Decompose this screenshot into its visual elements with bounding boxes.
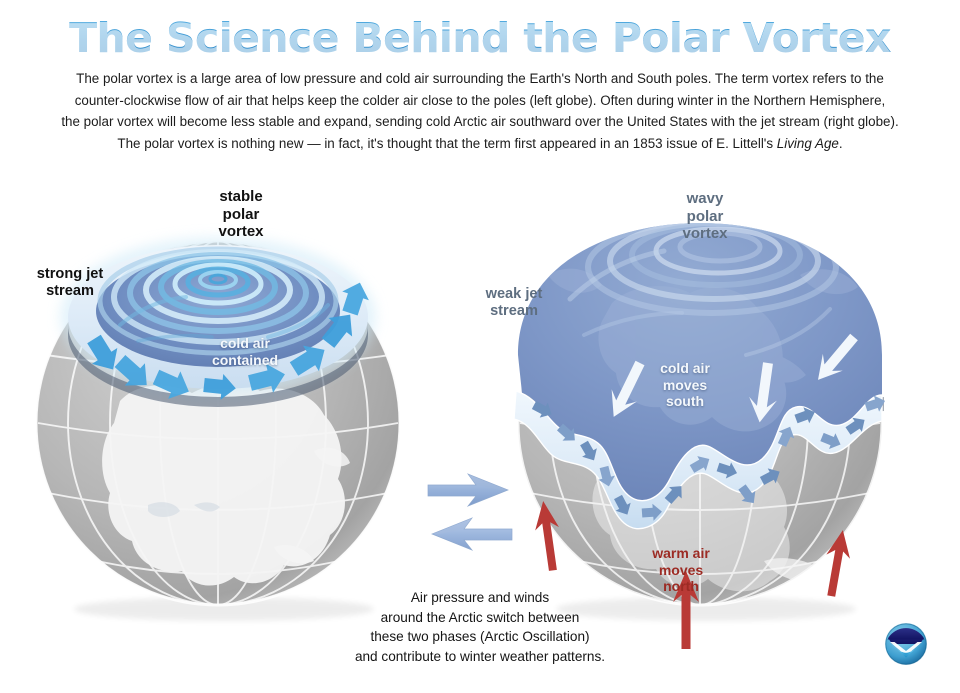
arrow-right-icon	[428, 474, 508, 506]
intro-line: The polar vortex is a large area of low …	[26, 68, 934, 90]
intro-italic-title: Living Age	[777, 136, 839, 151]
intro-line: The polar vortex is nothing new — in fac…	[26, 133, 934, 155]
north-america-landmass	[102, 383, 350, 586]
bottom-caption: Air pressure and winds around the Arctic…	[318, 588, 642, 666]
intro-paragraph: The polar vortex is a large area of low …	[26, 68, 934, 154]
label-weak-jet-stream: weak jet stream	[470, 286, 558, 320]
noaa-logo	[884, 622, 928, 666]
label-wavy-polar-vortex: wavy polar vortex	[662, 190, 748, 243]
arrow-left-icon	[432, 518, 512, 550]
intro-line: counter-clockwise flow of air that helps…	[26, 90, 934, 112]
label-warm-air-moves-north: warm air moves north	[638, 545, 724, 595]
label-cold-air-moves-south: cold air moves south	[645, 360, 725, 410]
caption-line: around the Arctic switch between	[318, 608, 642, 628]
intro-line-tail: .	[839, 136, 843, 151]
label-cold-air-contained: cold air contained	[190, 335, 300, 368]
page-title: The Science Behind the Polar Vortex	[0, 14, 960, 62]
label-strong-jet-stream: strong jet stream	[18, 266, 122, 300]
intro-line: the polar vortex will become less stable…	[26, 111, 934, 133]
label-stable-polar-vortex: stable polar vortex	[195, 188, 287, 241]
polar-vortex-cap	[60, 237, 376, 407]
intro-line-text: The polar vortex is nothing new — in fac…	[117, 136, 776, 151]
infographic-canvas: The Science Behind the Polar Vortex The …	[0, 0, 960, 693]
caption-line: these two phases (Arctic Oscillation)	[318, 627, 642, 647]
phase-switch-arrows	[424, 472, 516, 558]
caption-line: and contribute to winter weather pattern…	[318, 647, 642, 667]
caption-line: Air pressure and winds	[318, 588, 642, 608]
